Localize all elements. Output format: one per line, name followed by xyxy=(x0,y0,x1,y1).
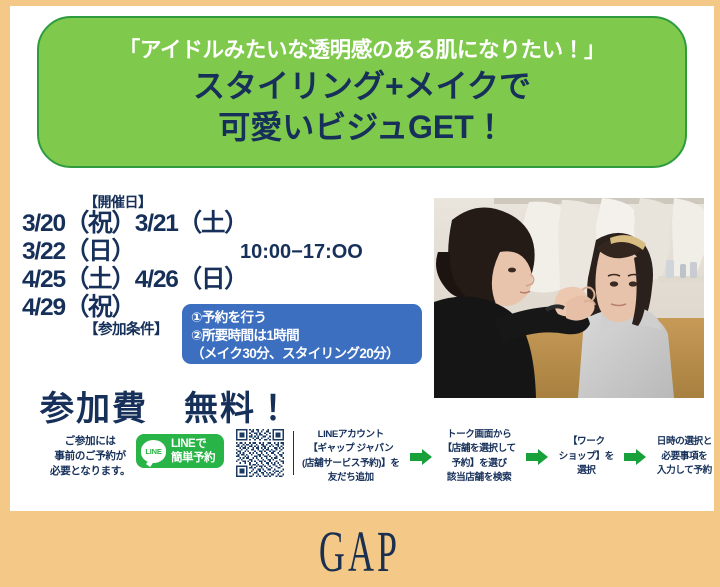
step-2-line-3: 予約】を選び xyxy=(442,457,515,471)
reservation-note-line-2: 事前のご予約が xyxy=(50,449,130,464)
gap-logo: GAP xyxy=(319,523,400,581)
step-1-text: LINEアカウント 【ギャップ ジャパン (店舗サービス予約)】を 友だち追加 xyxy=(302,428,400,486)
headline-line-2: 可愛いビジュGET！ xyxy=(218,107,506,148)
line-button-label-line-1: LINEで xyxy=(171,437,215,451)
condition-item-3: （メイク30分、スタイリング20分） xyxy=(191,345,422,363)
condition-item-2: ②所要時間は1時間 xyxy=(191,327,422,345)
schedule-date-1: 3/20（祝）3/21（土） xyxy=(22,211,422,238)
arrow-right-icon-2 xyxy=(526,449,548,465)
step-4-line-1: 日時の選択と xyxy=(657,435,712,449)
step-3-line-2: ショップ】を xyxy=(559,450,614,464)
step-4-line-2: 必要事項を xyxy=(657,450,712,464)
reservation-note-line-1: ご参加には xyxy=(50,434,130,449)
workshop-photo xyxy=(434,198,704,398)
price-headline: 参加費 無料！ xyxy=(40,381,292,430)
schedule-date-3: 4/25（土）4/26（日） xyxy=(22,267,422,294)
step-3-line-1: 【ワーク xyxy=(559,435,614,449)
line-logo-icon: LINE xyxy=(141,440,166,463)
headline-quote: 「アイドルみたいな透明感のある肌になりたい！」 xyxy=(119,38,606,63)
step-1-line-4: 友だち追加 xyxy=(302,471,400,485)
footer-band: GAP xyxy=(0,511,720,587)
vertical-divider xyxy=(293,431,294,475)
conditions-box: ①予約を行う ②所要時間は1時間 （メイク30分、スタイリング20分） xyxy=(182,304,422,364)
step-4-text: 日時の選択と 必要事項を 入力して予約 xyxy=(657,435,712,478)
reservation-steps: LINEアカウント 【ギャップ ジャパン (店舗サービス予約)】を 友だち追加 … xyxy=(302,428,712,486)
reservation-note-line-3: 必要となります。 xyxy=(50,464,130,479)
flyer-root: 「アイドルみたいな透明感のある肌になりたい！」 スタイリング+メイクで 可愛いビ… xyxy=(0,0,720,587)
step-2-line-2: 【店舗を選択して xyxy=(442,442,515,456)
reservation-note: ご参加には 事前のご予約が 必要となります。 xyxy=(50,434,130,480)
step-1-line-1: LINEアカウント xyxy=(302,428,400,442)
step-3-text: 【ワーク ショップ】を 選択 xyxy=(559,435,614,478)
step-1-line-3: (店舗サービス予約)】を xyxy=(302,457,400,471)
line-button-label: LINEで 簡単予約 xyxy=(171,437,215,466)
step-4-line-3: 入力して予約 xyxy=(657,464,712,478)
headline-line-1: スタイリング+メイクで xyxy=(193,66,531,107)
white-card: 「アイドルみたいな透明感のある肌になりたい！」 スタイリング+メイクで 可愛いビ… xyxy=(10,6,714,511)
schedule-label: 【開催日】 xyxy=(84,195,422,210)
arrow-right-icon-1 xyxy=(410,449,432,465)
step-2-line-1: トーク画面から xyxy=(442,428,515,442)
line-logo-text: LINE xyxy=(145,447,161,456)
headline-banner: 「アイドルみたいな透明感のある肌になりたい！」 スタイリング+メイクで 可愛いビ… xyxy=(37,16,687,168)
line-reserve-button[interactable]: LINE LINEで 簡単予約 xyxy=(136,434,224,468)
schedule-time: 10:00−17:OO xyxy=(240,241,363,264)
step-2-text: トーク画面から 【店舗を選択して 予約】を選び 該当店舗を検索 xyxy=(442,428,515,486)
reservation-strip: ご参加には 事前のご予約が 必要となります。 LINE LINEで 簡単予約 xyxy=(10,426,714,496)
line-button-label-line-2: 簡単予約 xyxy=(171,451,215,465)
condition-item-1: ①予約を行う xyxy=(191,309,422,327)
step-3-line-3: 選択 xyxy=(559,464,614,478)
qr-code-icon[interactable] xyxy=(236,429,284,477)
step-2-line-4: 該当店舗を検索 xyxy=(442,471,515,485)
step-1-line-2: 【ギャップ ジャパン xyxy=(302,442,400,456)
arrow-right-icon-3 xyxy=(624,449,646,465)
